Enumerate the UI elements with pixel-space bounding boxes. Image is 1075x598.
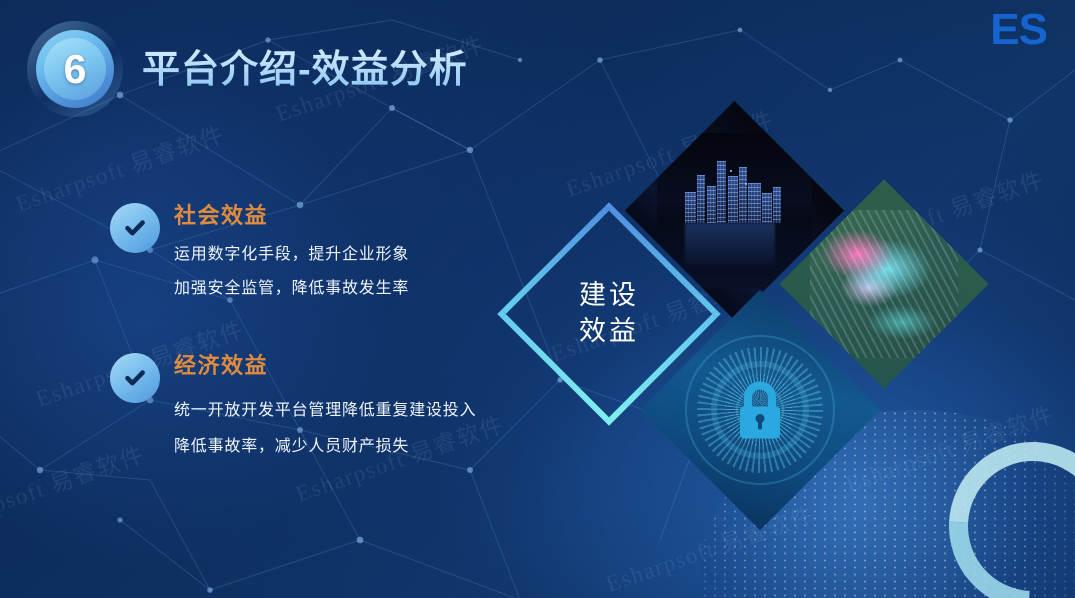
page-title: 平台介绍-效益分析: [142, 38, 468, 93]
benefit-line: 统一开放开发平台管理降低重复建设投入: [174, 396, 476, 420]
lock-icon: [728, 375, 792, 452]
center-label-line2: 效益: [579, 314, 639, 350]
watermark-text: Esharpsoft 易睿软件: [290, 405, 508, 508]
light-show-content: [810, 210, 958, 358]
benefit-line: 降低事故率，减少人员财产损失: [174, 432, 409, 456]
brand-logo: ES: [990, 8, 1047, 52]
benefit-heading: 经济效益: [174, 348, 268, 380]
slide-canvas: Esharpsoft 易睿软件 Esharpsoft 易睿软件 Esharpso…: [0, 0, 1075, 598]
benefit-line: 加强安全监管，降低事故发生率: [174, 274, 409, 298]
watermark-text: Esharpsoft 易睿软件: [0, 435, 148, 538]
light-streaks: [810, 210, 958, 358]
center-label-line1: 建设: [579, 278, 639, 314]
visual-composition: 建设 效益: [510, 110, 1075, 598]
check-circle-icon: [110, 353, 160, 403]
center-diamond-label: 建设 效益: [530, 235, 688, 393]
benefit-heading: 社会效益: [174, 198, 268, 230]
slide-number-badge: 6: [27, 21, 123, 117]
background-glow-left: [0, 60, 400, 580]
benefit-line: 运用数字化手段，提升企业形象: [174, 240, 409, 264]
badge-number: 6: [27, 21, 123, 117]
lock-graphic-content: [675, 325, 845, 495]
check-circle-icon: [110, 203, 160, 253]
